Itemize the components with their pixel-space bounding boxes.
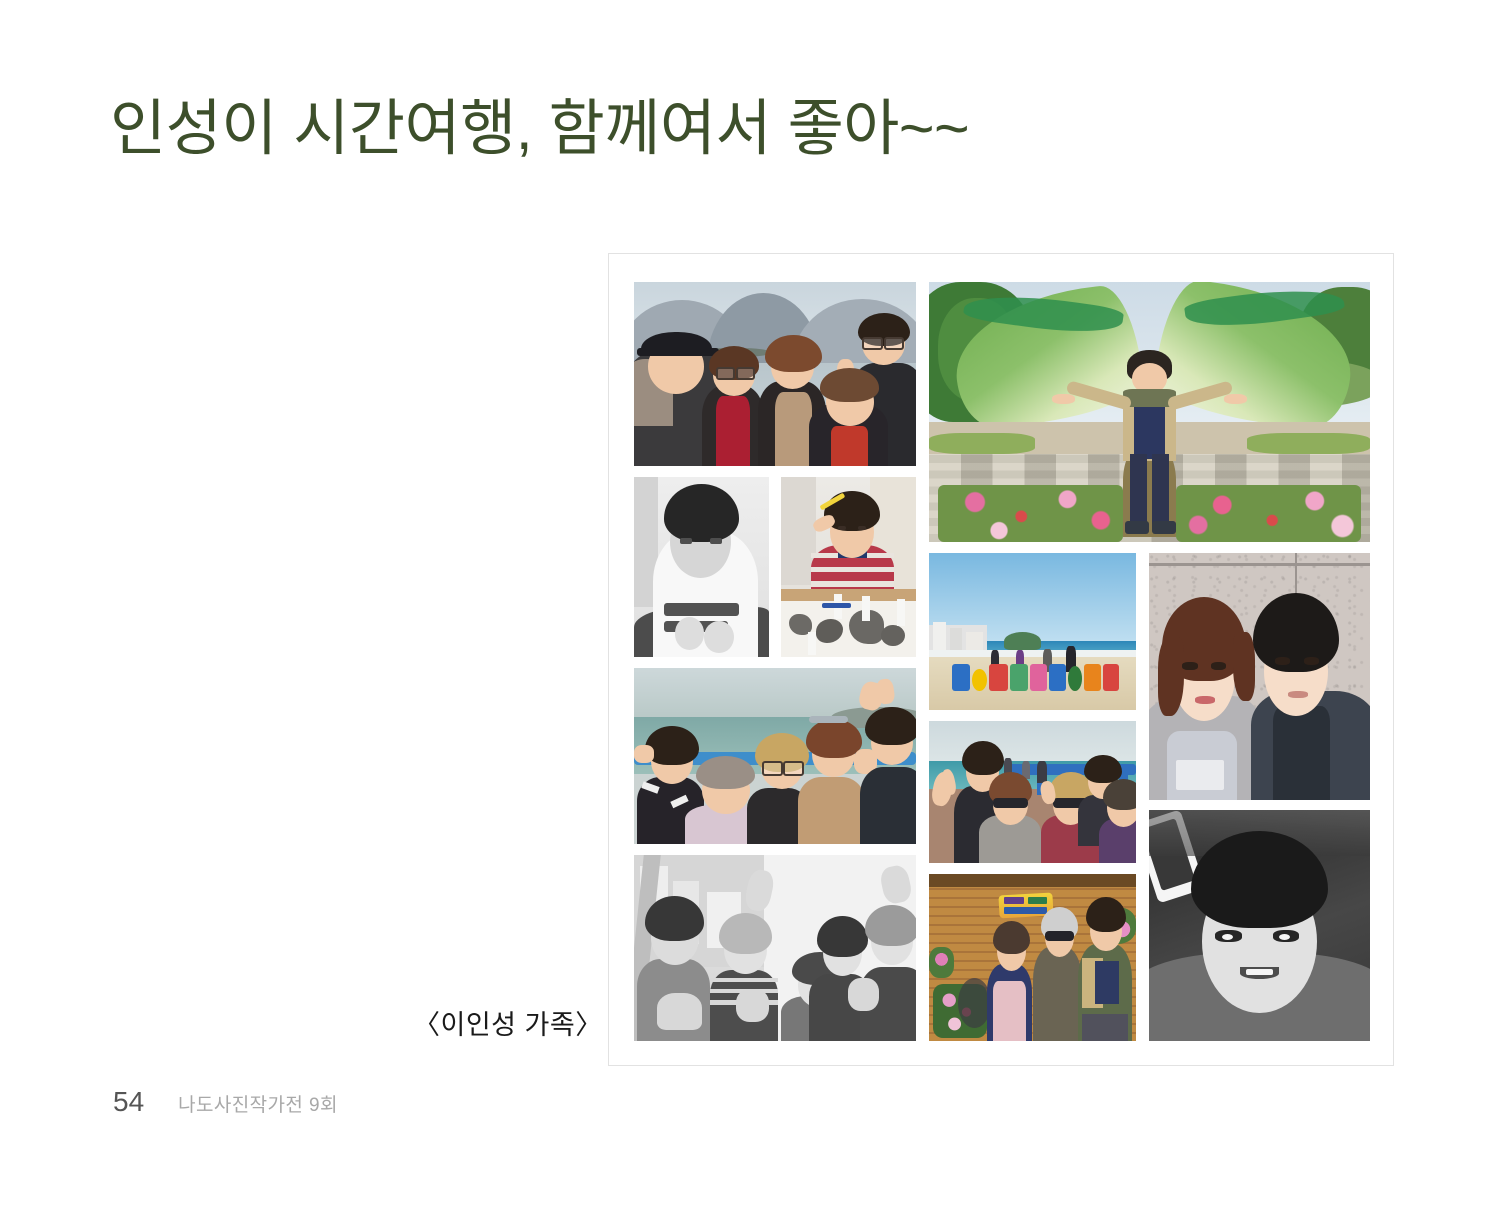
photo-family-seaside-group: [634, 668, 916, 844]
page-number: 54: [113, 1086, 144, 1118]
collage-caption: 〈이인성 가족〉: [413, 1003, 603, 1042]
photo-boy-clay-sculptures: [781, 477, 916, 657]
photo-family-pier-selfie: [929, 721, 1136, 863]
photo-boy-flower-wings: [929, 282, 1370, 542]
footer-source: 나도사진작가전 9회: [178, 1090, 338, 1117]
photo-boy-clay-bw: [634, 477, 769, 657]
photo-siblings-selfie: [1149, 553, 1370, 800]
page-title: 인성이 시간여행, 함께여서 좋아~~: [110, 96, 969, 160]
page-root: 인성이 시간여행, 함께여서 좋아~~: [0, 0, 1500, 1211]
page-footer: 54 나도사진작가전 9회: [113, 1086, 338, 1118]
photo-collage-card: [608, 253, 1394, 1066]
photo-three-generations-wooden-wall: [929, 874, 1136, 1041]
photo-family-lakeside-selfie: [634, 282, 916, 466]
photo-boy-selfie-bw: [1149, 810, 1370, 1041]
photo-songjeong-beach-sign: [929, 553, 1136, 710]
photo-family-waving-bw: [634, 855, 916, 1041]
